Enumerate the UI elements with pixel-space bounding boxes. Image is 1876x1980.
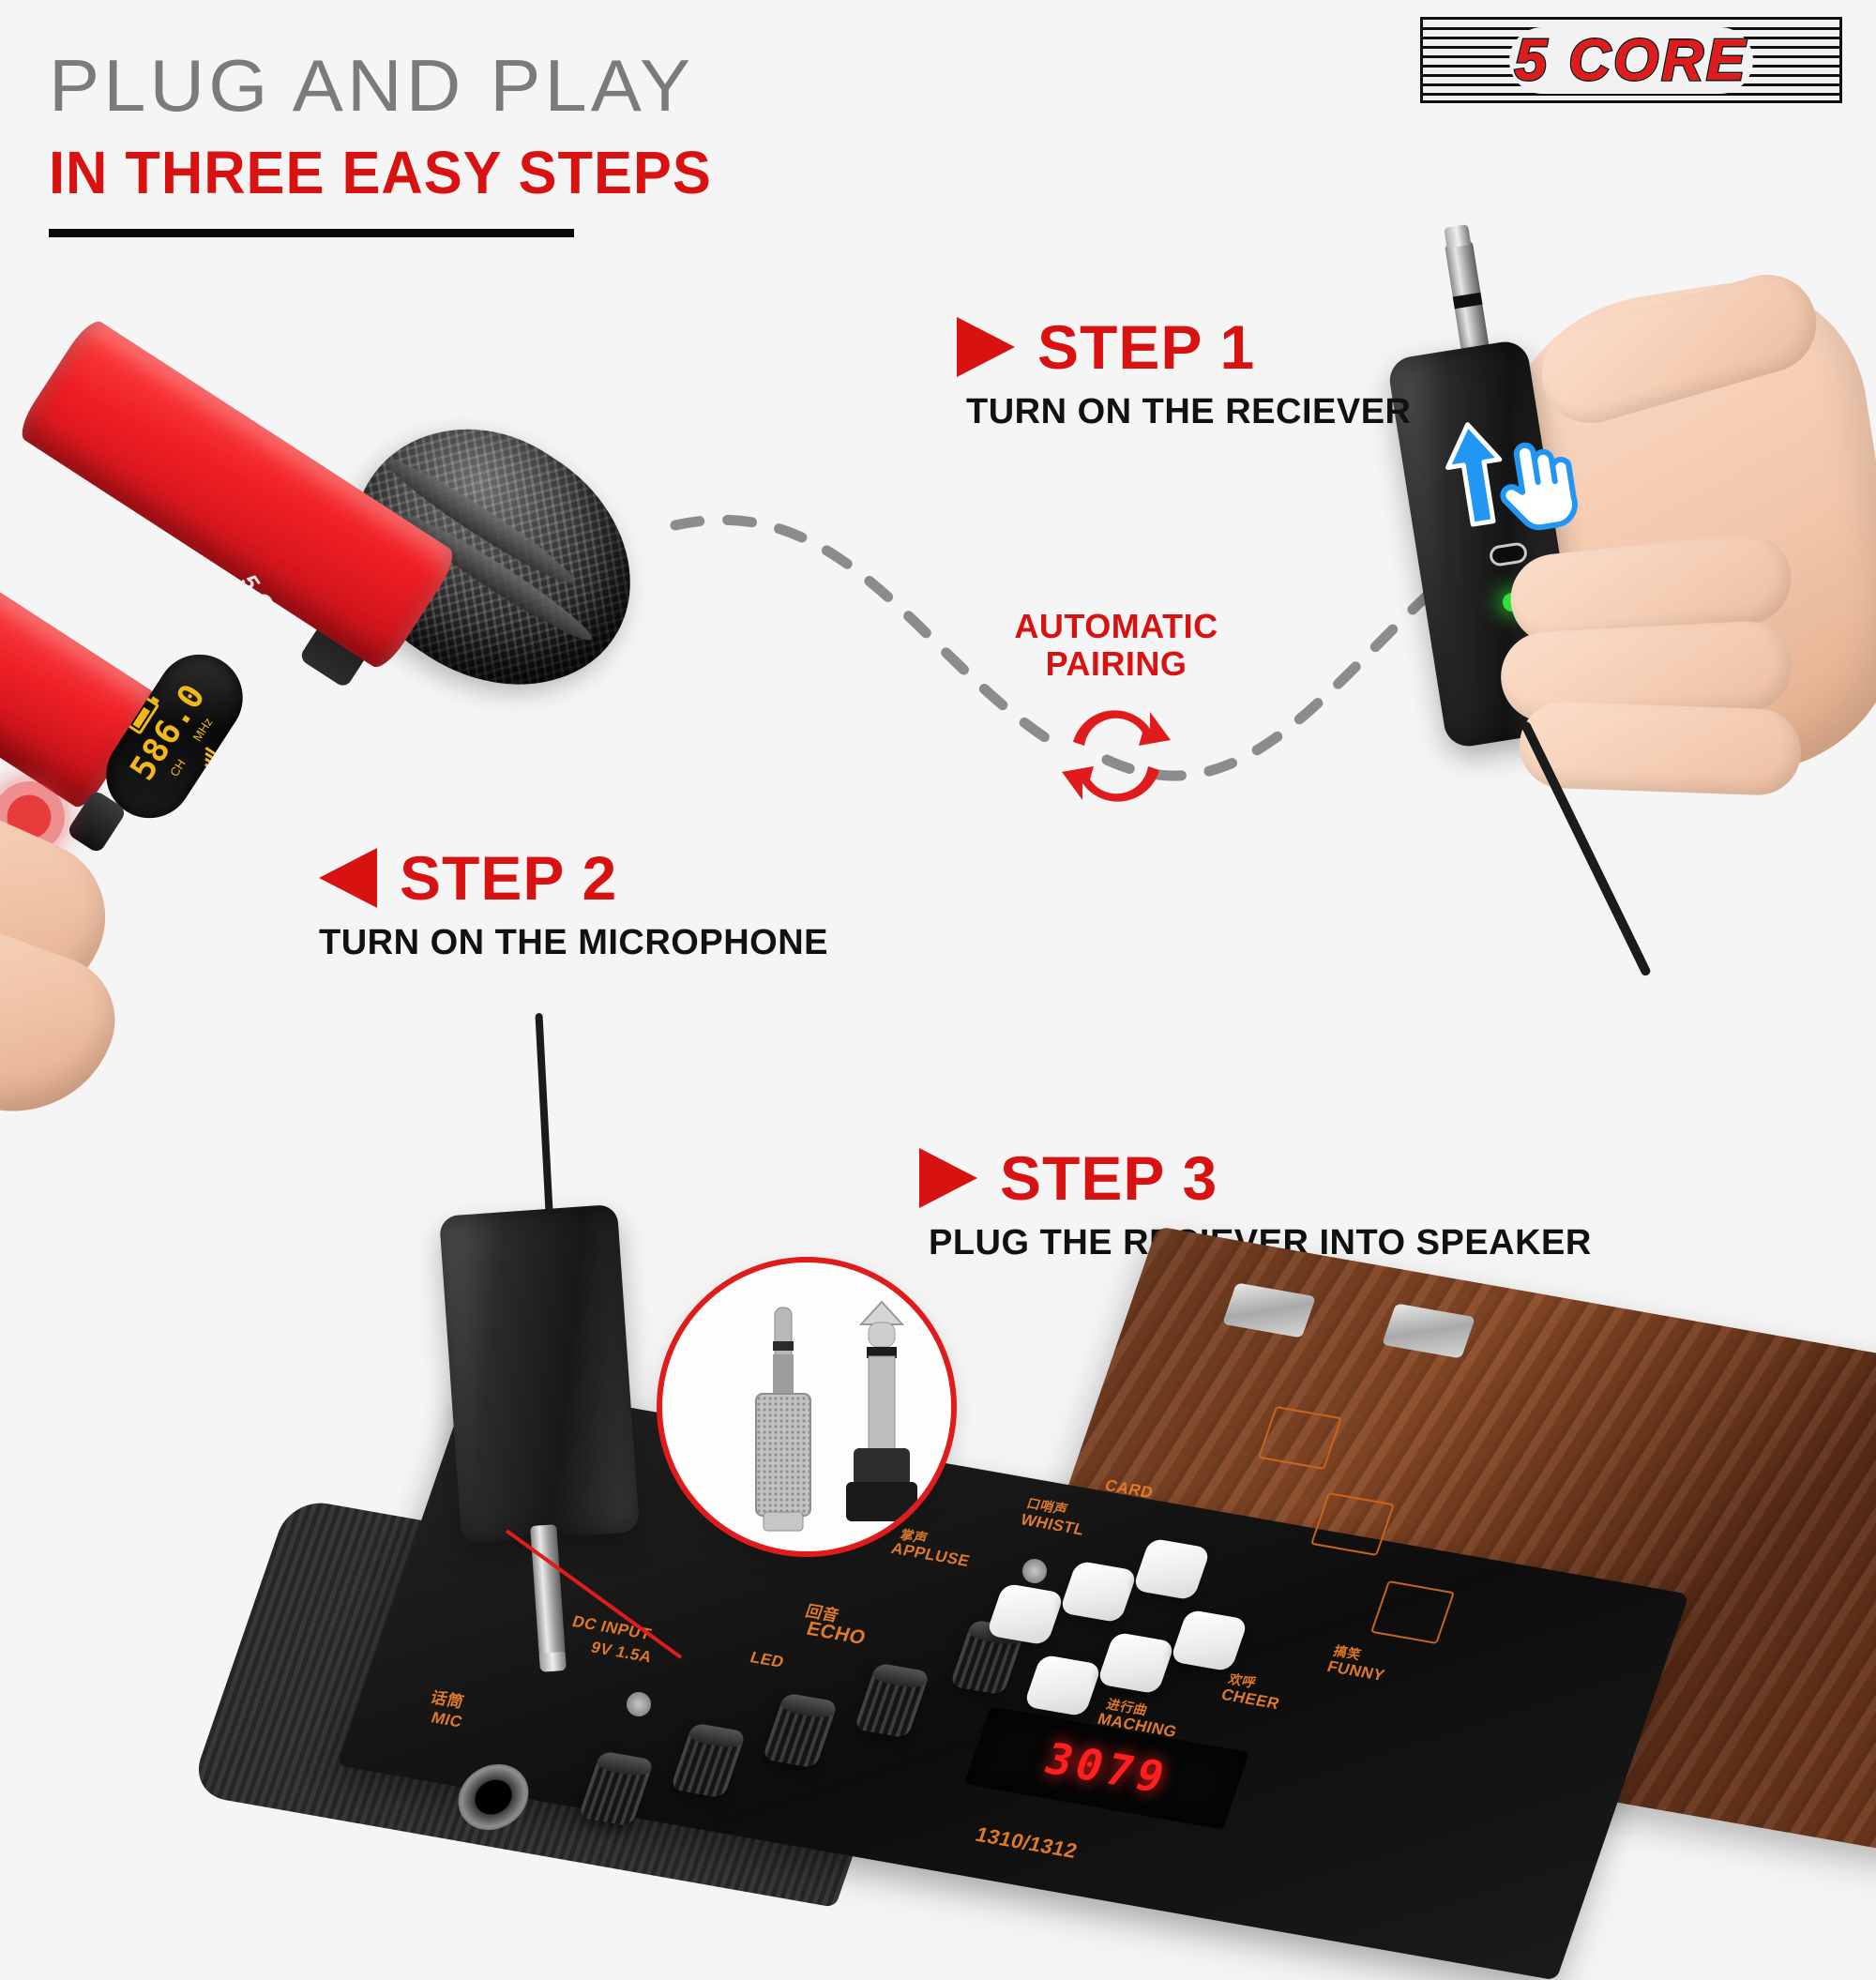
quarter-inch-plug-icon	[846, 1296, 917, 1521]
step-1-description: TURN ON THE RECIEVER	[966, 392, 1411, 432]
receiver-pack-body	[439, 1204, 640, 1544]
triangle-left-icon	[319, 848, 377, 908]
speaker-illustration: 话筒 MIC DC INPUT 9V 1.5A LED 回音 ECHO CARD…	[150, 1313, 1876, 1913]
connector-magnifier	[657, 1257, 957, 1557]
triangle-right-icon	[919, 1148, 977, 1208]
step-2-title: STEP 2	[400, 842, 617, 914]
speaker-led-value: 3079	[1038, 1733, 1176, 1803]
infographic-canvas: PLUG AND PLAY IN THREE EASY STEPS 5 CORE…	[0, 0, 1876, 1876]
logo-text: 5 CORE	[1420, 17, 1842, 103]
brand-logo: 5 CORE	[1420, 17, 1842, 103]
headline-primary: PLUG AND PLAY	[49, 49, 767, 122]
pairing-label-line2: PAIRING	[994, 645, 1238, 683]
step-2-description: TURN ON THE MICROPHONE	[319, 923, 828, 963]
step-1-block: STEP 1 TURN ON THE RECIEVER	[957, 311, 1411, 432]
step-2-block: STEP 2 TURN ON THE MICROPHONE	[319, 842, 828, 963]
step-3-title: STEP 3	[1000, 1142, 1218, 1214]
receiver-in-hand-illustration	[1379, 234, 1876, 816]
headline-secondary: IN THREE EASY STEPS	[49, 143, 712, 203]
pairing-label-line1: AUTOMATIC	[994, 608, 1238, 645]
headline-underline	[49, 229, 574, 237]
3.5mm-to-6.35mm-adapter-icon	[745, 1300, 824, 1534]
page-title: PLUG AND PLAY IN THREE EASY STEPS	[49, 49, 739, 237]
triangle-right-icon	[957, 317, 1015, 377]
finger-pinky	[1518, 701, 1802, 796]
hand-pointer-icon[interactable]	[1486, 427, 1591, 541]
logo-wordmark: 5 CORE	[1509, 27, 1754, 94]
sync-arrows-icon	[1060, 704, 1172, 808]
automatic-pairing-badge: AUTOMATIC PAIRING	[994, 608, 1238, 808]
microphone-illustration: 5 CORE 586.0 CH MHz	[0, 403, 657, 1079]
step-1-title: STEP 1	[1037, 311, 1255, 383]
